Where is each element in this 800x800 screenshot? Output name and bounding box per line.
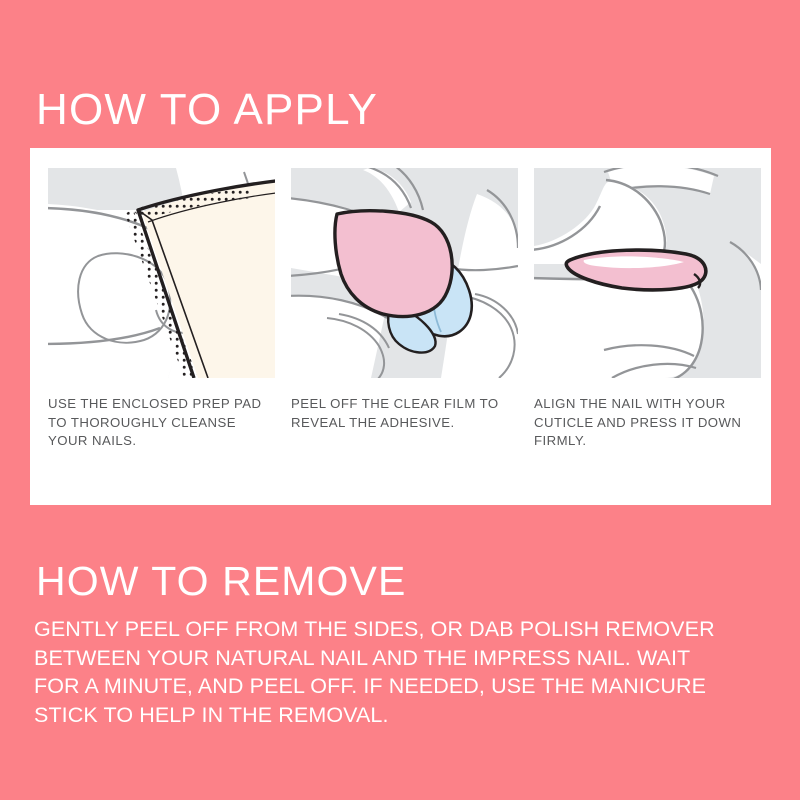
step-3-caption: ALIGN THE NAIL WITH YOUR CUTICLE AND PRE…: [534, 395, 761, 451]
apply-step-2: PEEL OFF THE CLEAR FILM TO REVEAL THE AD…: [291, 168, 518, 451]
how-to-remove-heading: HOW TO REMOVE: [36, 557, 406, 605]
step-2-caption: PEEL OFF THE CLEAR FILM TO REVEAL THE AD…: [291, 395, 518, 432]
apply-steps-row: USE THE ENCLOSED PREP PAD TO THOROUGHLY …: [48, 168, 761, 451]
prep-pad-on-finger-illustration: [48, 168, 275, 378]
how-to-apply-heading: HOW TO APPLY: [36, 84, 378, 136]
peel-clear-film-illustration: [291, 168, 518, 378]
step-1-caption: USE THE ENCLOSED PREP PAD TO THOROUGHLY …: [48, 395, 275, 451]
how-to-remove-body-text: GENTLY PEEL OFF FROM THE SIDES, OR DAB P…: [34, 615, 736, 729]
apply-step-1: USE THE ENCLOSED PREP PAD TO THOROUGHLY …: [48, 168, 275, 451]
step-3-illustration-panel: [534, 168, 761, 378]
align-nail-to-cuticle-illustration: [534, 168, 761, 378]
step-1-illustration-panel: [48, 168, 275, 378]
how-to-apply-card: USE THE ENCLOSED PREP PAD TO THOROUGHLY …: [30, 148, 771, 505]
apply-step-3: ALIGN THE NAIL WITH YOUR CUTICLE AND PRE…: [534, 168, 761, 451]
step-2-illustration-panel: [291, 168, 518, 378]
